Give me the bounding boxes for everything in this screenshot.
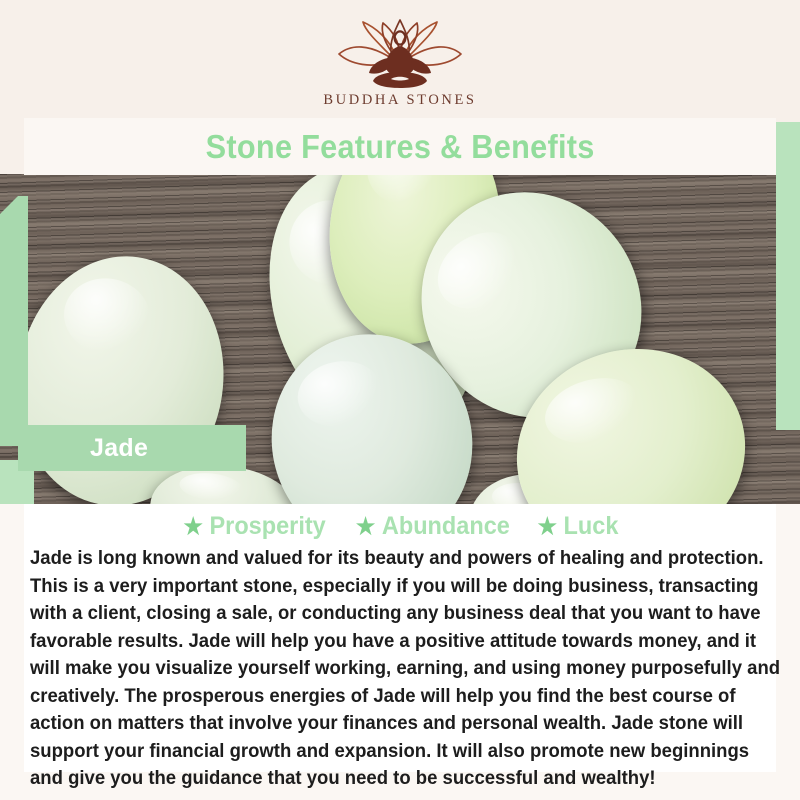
infographic-page: BUDDHA STONES Stone Features & Benefits … <box>0 0 800 800</box>
benefit-label: Luck <box>563 512 618 541</box>
lotus-meditation-icon <box>325 18 475 90</box>
brand-name: BUDDHA STONES <box>323 92 476 109</box>
benefit-luck: ★ Luck <box>537 512 618 541</box>
star-icon: ★ <box>356 515 375 538</box>
benefit-label: Abundance <box>382 512 510 541</box>
benefit-label: Prosperity <box>210 512 326 541</box>
benefit-abundance: ★ Abundance <box>356 512 510 541</box>
title-band: Stone Features & Benefits <box>24 118 776 175</box>
stone-name-label: Jade <box>90 434 148 463</box>
benefit-prosperity: ★ Prosperity <box>184 512 326 541</box>
body-description: Jade is long known and valued for its be… <box>30 545 781 793</box>
page-title: Stone Features & Benefits <box>205 128 594 166</box>
content-section: ★ Prosperity ★ Abundance ★ Luck Jade is … <box>0 504 800 800</box>
star-icon: ★ <box>184 515 203 538</box>
benefits-row: ★ Prosperity ★ Abundance ★ Luck <box>24 504 776 541</box>
content-panel: ★ Prosperity ★ Abundance ★ Luck Jade is … <box>24 504 776 772</box>
decorative-strip-left <box>0 196 28 446</box>
brand-header: BUDDHA STONES <box>0 0 800 122</box>
star-icon: ★ <box>537 515 556 538</box>
stone-name-band: Jade <box>18 425 246 471</box>
logo: BUDDHA STONES <box>323 18 476 109</box>
